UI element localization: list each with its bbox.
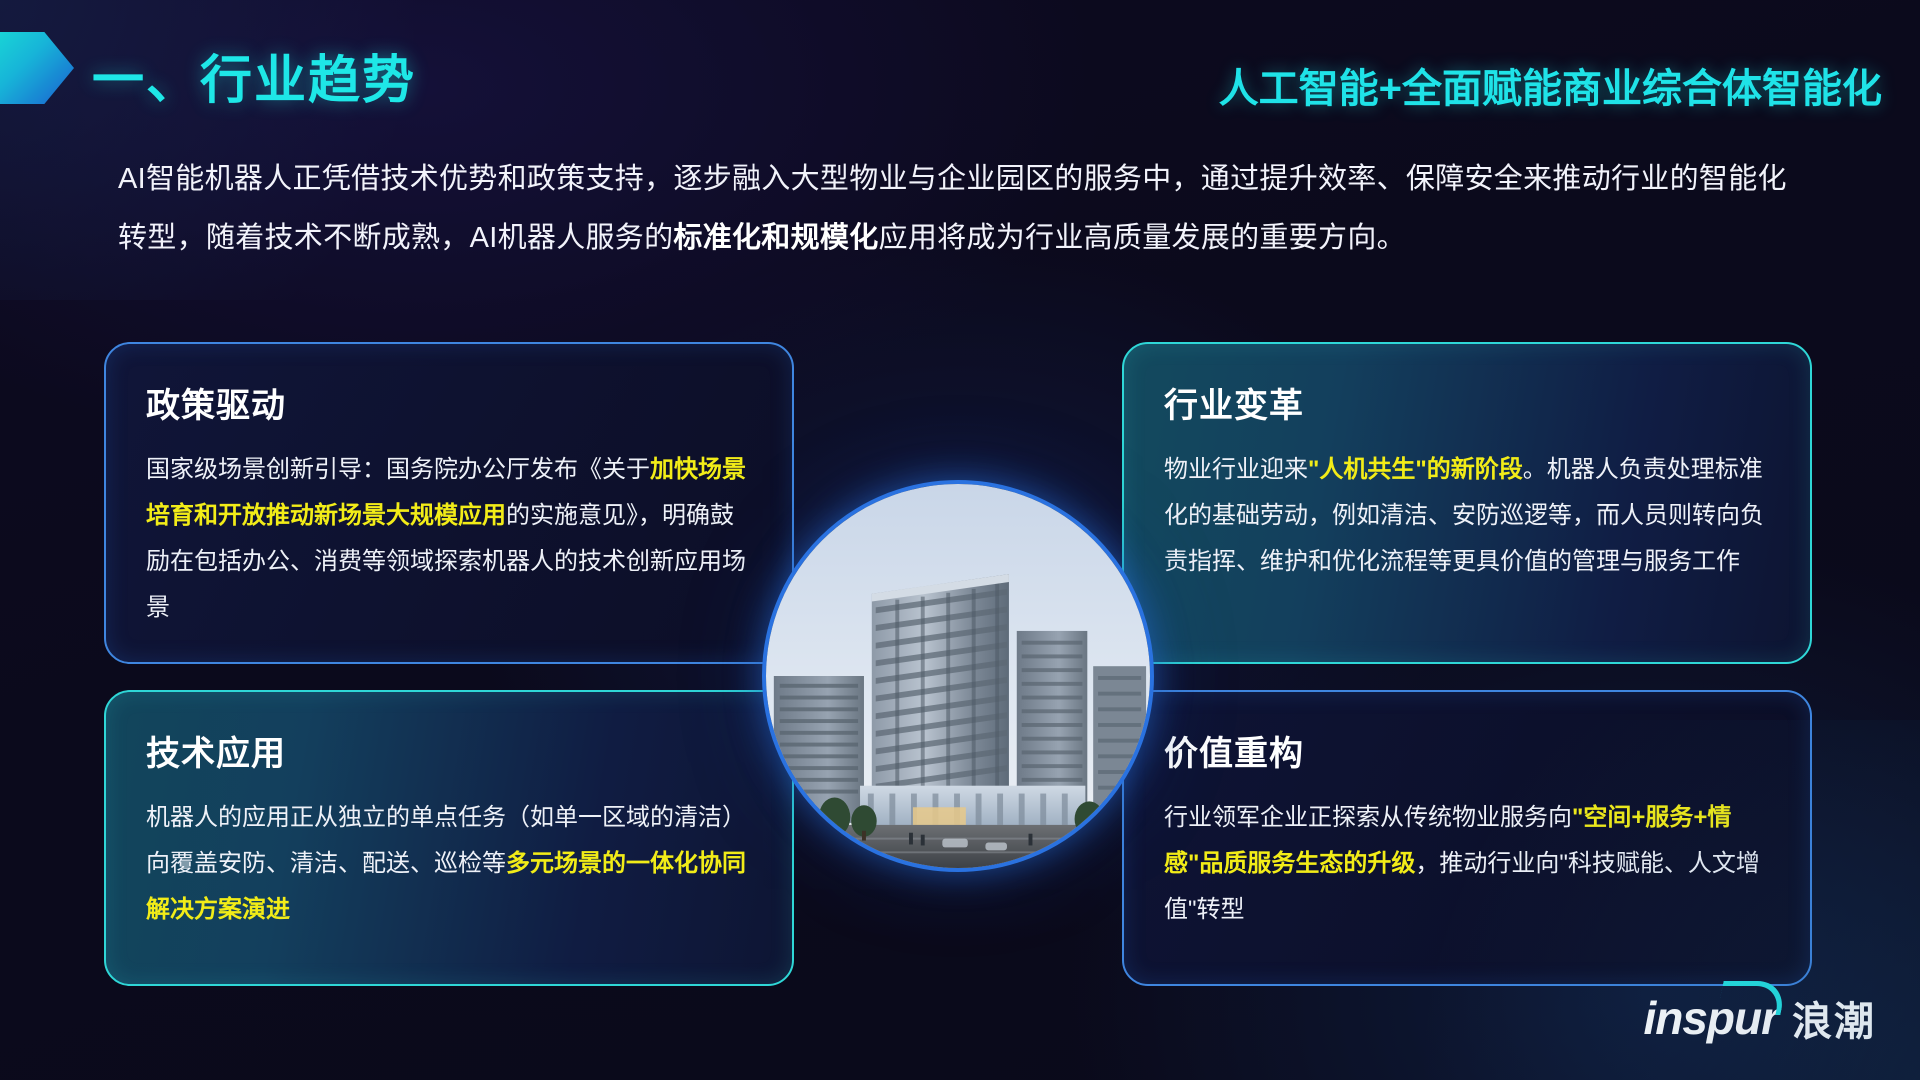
logo-swoosh-icon (1716, 981, 1787, 1015)
card-policy-body-pre: 国家级场景创新引导：国务院办公厅发布《关于 (146, 456, 650, 483)
slide-root: 一、行业趋势 人工智能+全面赋能商业综合体智能化 AI智能机器人正凭借技术优势和… (0, 0, 1920, 1080)
inspur-logo: inspur 浪潮 (1643, 990, 1876, 1046)
card-industry-body-pre: 物业行业迎来 (1164, 456, 1308, 483)
intro-highlight: 标准化和规模化 (673, 222, 878, 254)
card-policy-body: 国家级场景创新引导：国务院办公厅发布《关于加快场景培育和开放推动新场景大规模应用… (146, 447, 752, 631)
chevron-right-icon (0, 32, 74, 104)
card-tech-body: 机器人的应用正从独立的单点任务（如单一区域的清洁）向覆盖安防、清洁、配送、巡检等… (146, 795, 752, 933)
card-industry[interactable]: 行业变革 物业行业迎来"人机共生"的新阶段。机器人负责处理标准化的基础劳动，例如… (1122, 342, 1812, 664)
card-industry-body-highlight: "人机共生"的新阶段 (1308, 456, 1523, 483)
card-value-body-pre: 行业领军企业正探索从传统物业服务向 (1164, 804, 1572, 831)
office-building-photo (762, 480, 1154, 872)
header-subtitle: 人工智能+全面赋能商业综合体智能化 (1219, 56, 1882, 114)
slide-header: 一、行业趋势 人工智能+全面赋能商业综合体智能化 (0, 22, 1920, 114)
card-policy-title: 政策驱动 (146, 378, 752, 427)
card-value-title: 价值重构 (1164, 726, 1770, 775)
card-tech-title: 技术应用 (146, 726, 752, 775)
card-value[interactable]: 价值重构 行业领军企业正探索从传统物业服务向"空间+服务+情感"品质服务生态的升… (1122, 690, 1812, 986)
intro-paragraph: AI智能机器人正凭借技术优势和政策支持，逐步融入大型物业与企业园区的服务中，通过… (118, 150, 1808, 268)
building-illustration (766, 484, 1150, 868)
card-industry-body: 物业行业迎来"人机共生"的新阶段。机器人负责处理标准化的基础劳动，例如清洁、安防… (1164, 447, 1770, 585)
card-tech[interactable]: 技术应用 机器人的应用正从独立的单点任务（如单一区域的清洁）向覆盖安防、清洁、配… (104, 690, 794, 986)
card-policy[interactable]: 政策驱动 国家级场景创新引导：国务院办公厅发布《关于加快场景培育和开放推动新场景… (104, 342, 794, 664)
logo-chinese-name: 浪潮 (1792, 989, 1876, 1047)
card-value-body: 行业领军企业正探索从传统物业服务向"空间+服务+情感"品质服务生态的升级，推动行… (1164, 795, 1770, 933)
logo-wordmark: inspur (1643, 991, 1778, 1045)
page-title: 一、行业趋势 (92, 38, 416, 113)
intro-text-part2: 应用将成为行业高质量发展的重要方向。 (879, 222, 1406, 254)
card-industry-title: 行业变革 (1164, 378, 1770, 427)
